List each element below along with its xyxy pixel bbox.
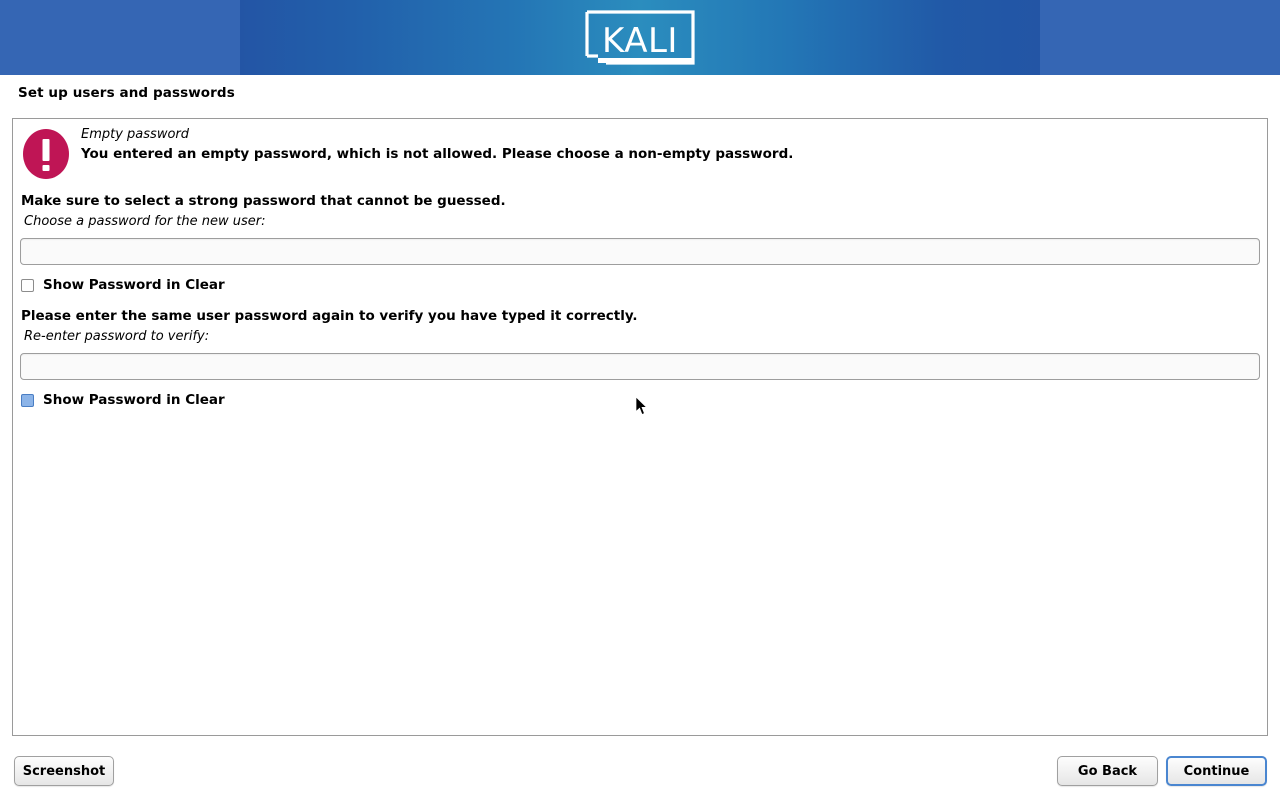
verify-section-heading: Please enter the same user password agai… [21, 308, 638, 324]
show-password-checkbox-2[interactable] [21, 394, 34, 407]
show-password-checkbox-1-label: Show Password in Clear [43, 277, 225, 293]
verify-password-input[interactable] [20, 353, 1260, 380]
error-notice: Empty password You entered an empty pass… [13, 119, 1269, 191]
go-back-button[interactable]: Go Back [1057, 756, 1158, 786]
installer-window: KALI Set up users and passwords Empty pa… [0, 0, 1280, 800]
main-content-panel: Empty password You entered an empty pass… [12, 118, 1268, 736]
kali-banner: KALI [0, 0, 1280, 75]
show-password-checkbox-1[interactable] [21, 279, 34, 292]
svg-text:KALI: KALI [602, 21, 678, 61]
verify-field-label: Re-enter password to verify: [24, 329, 209, 344]
show-password-in-clear-row-1[interactable]: Show Password in Clear [21, 277, 225, 293]
page-title: Set up users and passwords [18, 85, 235, 101]
password-section-heading: Make sure to select a strong password th… [21, 193, 506, 209]
error-title: Empty password [81, 127, 189, 142]
screenshot-button[interactable]: Screenshot [14, 756, 114, 786]
password-field-label: Choose a password for the new user: [24, 214, 266, 229]
password-input[interactable] [20, 238, 1260, 265]
error-message: You entered an empty password, which is … [81, 146, 793, 162]
error-exclamation-icon [23, 129, 69, 179]
show-password-checkbox-2-label: Show Password in Clear [43, 392, 225, 408]
show-password-in-clear-row-2[interactable]: Show Password in Clear [21, 392, 225, 408]
continue-button[interactable]: Continue [1166, 756, 1267, 786]
kali-logo: KALI [584, 9, 696, 66]
